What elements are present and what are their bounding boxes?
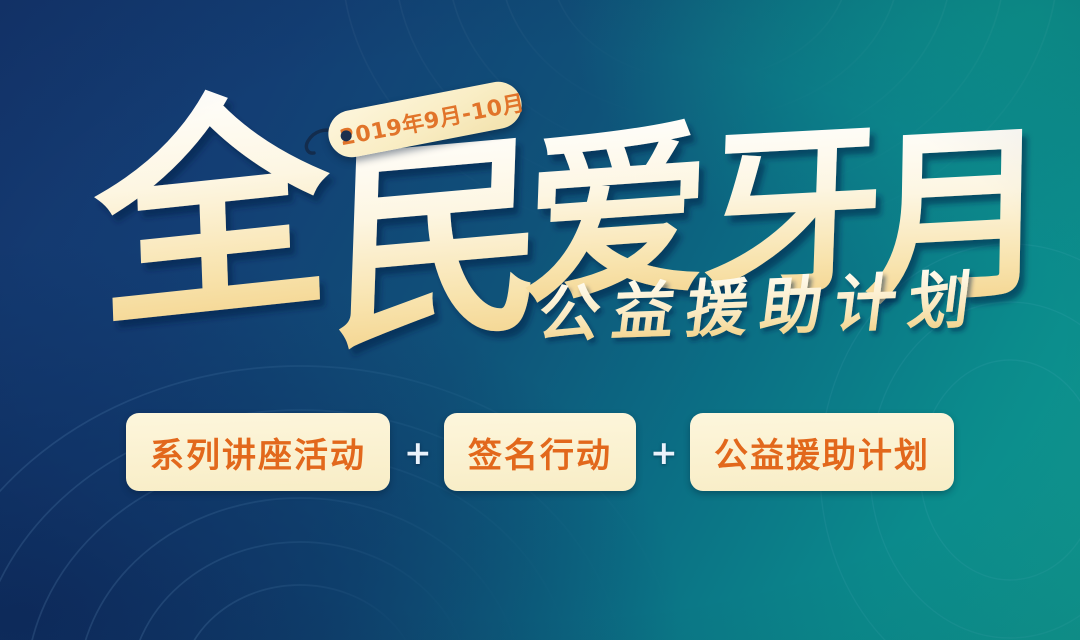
date-tag-label: 2019年9月-10月 xyxy=(323,85,527,155)
subtitle-calligraphy: 公益援助计划 xyxy=(534,263,987,351)
program-pill-label: 公益援助计划 xyxy=(714,428,930,477)
poster-banner: 全 民 爱 牙 月 公益援助计划 xyxy=(0,0,1080,640)
title-char-quan: 全 xyxy=(90,65,336,363)
program-pill-label: 系列讲座活动 xyxy=(150,428,366,477)
title-char-ya: 牙 xyxy=(700,104,887,324)
program-pill-row: 系列讲座活动 + 签名行动 + 公益援助计划 xyxy=(0,413,1080,491)
program-pill-lecture-series[interactable]: 系列讲座活动 xyxy=(126,413,390,491)
title-char-ai: 爱 xyxy=(521,101,713,330)
plus-separator-2: + xyxy=(650,436,676,469)
program-pill-signature-action[interactable]: 签名行动 xyxy=(444,413,636,491)
program-pill-charity-aid-plan[interactable]: 公益援助计划 xyxy=(690,413,954,491)
date-tag: 2019年9月-10月 xyxy=(324,78,525,162)
ripple-decoration xyxy=(0,0,1080,640)
title-char-yue: 月 xyxy=(864,104,1053,330)
vignette-overlay xyxy=(0,0,1080,640)
plus-separator-1: + xyxy=(404,436,430,469)
headline-calligraphy: 全 民 爱 牙 月 公益援助计划 xyxy=(0,70,1080,360)
program-pill-label: 签名行动 xyxy=(468,428,612,477)
